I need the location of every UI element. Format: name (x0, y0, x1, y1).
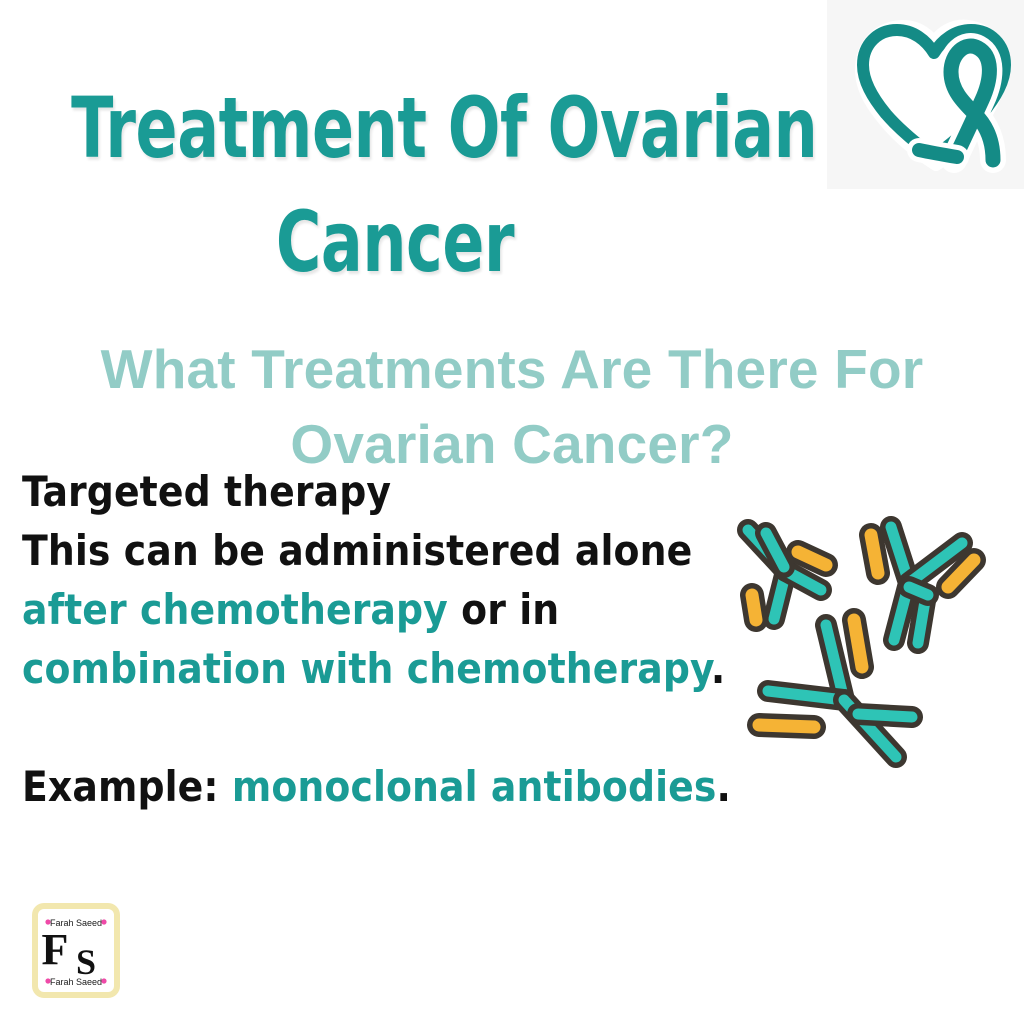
watermark-monogram-s: S (76, 942, 96, 982)
page-title: Treatment Of Ovarian Cancer (71, 72, 719, 299)
body-copy: Targeted therapy This can be administere… (22, 462, 712, 816)
body-line-3-plain: or in (448, 585, 559, 634)
body-example-line: Example: monoclonal antibodies. (22, 757, 712, 816)
teal-heart-ribbon-logo (841, 10, 1011, 180)
body-line-3-accent: after chemotherapy (22, 585, 448, 634)
watermark-monogram-f: F (42, 925, 69, 974)
watermark-dot-right-bottom (101, 978, 106, 983)
page-title-line-1: Treatment Of Ovarian (71, 72, 719, 185)
logo-panel (827, 0, 1024, 189)
body-line-4-period: . (711, 644, 725, 693)
watermark-dot-right-top (101, 919, 106, 924)
page-title-line-2: Cancer (71, 186, 719, 299)
body-heading: Targeted therapy (22, 462, 712, 521)
page-subtitle: What Treatments Are There For Ovarian Ca… (40, 332, 984, 483)
watermark-logo: Farah Saeed Farah Saeed F S (29, 901, 123, 1000)
body-spacer (22, 698, 712, 757)
infographic-poster: Treatment Of Ovarian Cancer What Treatme… (0, 0, 1024, 1024)
body-line-2: This can be administered alone (22, 521, 712, 580)
monoclonal-antibodies-illustration (726, 495, 1016, 780)
page-subtitle-line-1: What Treatments Are There For (40, 332, 984, 407)
body-line-4: combination with chemotherapy. (22, 639, 712, 698)
body-line-4-accent: combination with chemotherapy (22, 644, 711, 693)
body-example-value: monoclonal antibodies (219, 762, 717, 811)
body-example-label: Example: (22, 762, 219, 811)
body-line-3: after chemotherapy or in (22, 580, 712, 639)
